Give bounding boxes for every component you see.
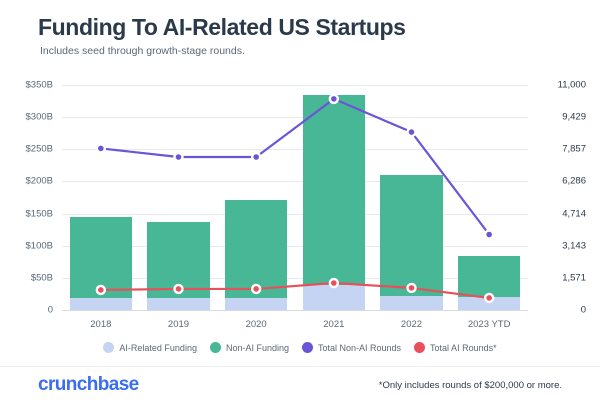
bar-segment-ai-funding[interactable] xyxy=(147,298,209,310)
y-axis-right-tick: 6,286 xyxy=(538,176,586,187)
gridline xyxy=(62,117,528,118)
bar-group[interactable] xyxy=(380,175,442,310)
footer-divider xyxy=(0,366,600,367)
bar-segment-ai-funding[interactable] xyxy=(70,298,132,310)
bar-segment-non-ai-funding[interactable] xyxy=(225,200,287,298)
x-axis-tick: 2021 xyxy=(323,319,344,330)
bar-group[interactable] xyxy=(458,256,520,310)
data-point-marker[interactable] xyxy=(252,153,260,161)
x-axis-tick: 2022 xyxy=(401,319,422,330)
legend-item[interactable]: Non-AI Funding xyxy=(210,342,289,353)
y-axis-left-tick: $350B xyxy=(26,80,53,91)
bar-segment-ai-funding[interactable] xyxy=(458,297,520,310)
legend-item-label: Total Non-AI Rounds xyxy=(318,343,401,353)
x-axis-tick: 2023 YTD xyxy=(468,319,511,330)
bar-segment-non-ai-funding[interactable] xyxy=(70,217,132,299)
data-point-marker[interactable] xyxy=(485,231,493,239)
gridline xyxy=(62,214,528,215)
axis-baseline xyxy=(62,310,528,311)
bar-segment-ai-funding[interactable] xyxy=(225,298,287,310)
y-axis-left-tick: $50B xyxy=(31,272,53,283)
bar-segment-non-ai-funding[interactable] xyxy=(147,222,209,298)
y-axis-left-tick: $250B xyxy=(26,144,53,155)
y-axis-left-tick: $150B xyxy=(26,208,53,219)
bar-segment-non-ai-funding[interactable] xyxy=(380,175,442,296)
gridline xyxy=(62,85,528,86)
legend-swatch-icon xyxy=(210,342,221,353)
data-point-marker[interactable] xyxy=(175,153,183,161)
y-axis-right-tick: 0 xyxy=(538,305,586,316)
data-point-marker[interactable] xyxy=(408,128,416,136)
y-axis-right-tick: 9,429 xyxy=(538,112,586,123)
legend-item[interactable]: Total Non-AI Rounds xyxy=(302,342,401,353)
x-axis-tick: 2018 xyxy=(90,319,111,330)
legend-item[interactable]: AI-Related Funding xyxy=(103,342,197,353)
bar-segment-non-ai-funding[interactable] xyxy=(303,95,365,285)
plot-area: 0$50B$100B$150B$200B$250B$300B$350B 01,5… xyxy=(62,85,528,310)
legend-item-label: Non-AI Funding xyxy=(226,343,289,353)
y-axis-right-tick: 11,000 xyxy=(538,80,586,91)
y-axis-right-tick: 3,143 xyxy=(538,240,586,251)
gridline xyxy=(62,149,528,150)
gridline xyxy=(62,181,528,182)
y-axis-right-tick: 1,571 xyxy=(538,272,586,283)
y-axis-left-tick: $100B xyxy=(26,240,53,251)
bar-group[interactable] xyxy=(303,95,365,310)
y-axis-right-tick: 7,857 xyxy=(538,144,586,155)
y-axis-left-tick: $300B xyxy=(26,112,53,123)
bar-group[interactable] xyxy=(225,200,287,310)
chart-subtitle: Includes seed through growth-stage round… xyxy=(40,45,245,57)
legend-item-label: AI-Related Funding xyxy=(119,343,197,353)
legend-swatch-icon xyxy=(103,342,114,353)
brand-logo: crunchbase xyxy=(38,374,139,396)
legend-item-label: Total AI Rounds* xyxy=(430,343,497,353)
bar-segment-ai-funding[interactable] xyxy=(380,296,442,310)
bar-segment-non-ai-funding[interactable] xyxy=(458,256,520,297)
legend-item[interactable]: Total AI Rounds* xyxy=(414,342,497,353)
y-axis-left-tick: 0 xyxy=(48,305,53,316)
chart-canvas: Funding To AI-Related US Startups Includ… xyxy=(0,0,600,412)
legend-swatch-icon xyxy=(302,342,313,353)
bar-group[interactable] xyxy=(147,222,209,310)
y-axis-right-tick: 4,714 xyxy=(538,208,586,219)
chart-legend: AI-Related FundingNon-AI FundingTotal No… xyxy=(0,342,600,353)
bar-group[interactable] xyxy=(70,217,132,310)
gridline xyxy=(62,246,528,247)
legend-swatch-icon xyxy=(414,342,425,353)
chart-footnote: *Only includes rounds of $200,000 or mor… xyxy=(379,380,562,391)
y-axis-left-tick: $200B xyxy=(26,176,53,187)
x-axis-tick: 2020 xyxy=(246,319,267,330)
x-axis-tick: 2019 xyxy=(168,319,189,330)
bar-segment-ai-funding[interactable] xyxy=(303,285,365,310)
page-title: Funding To AI-Related US Startups xyxy=(38,14,406,41)
